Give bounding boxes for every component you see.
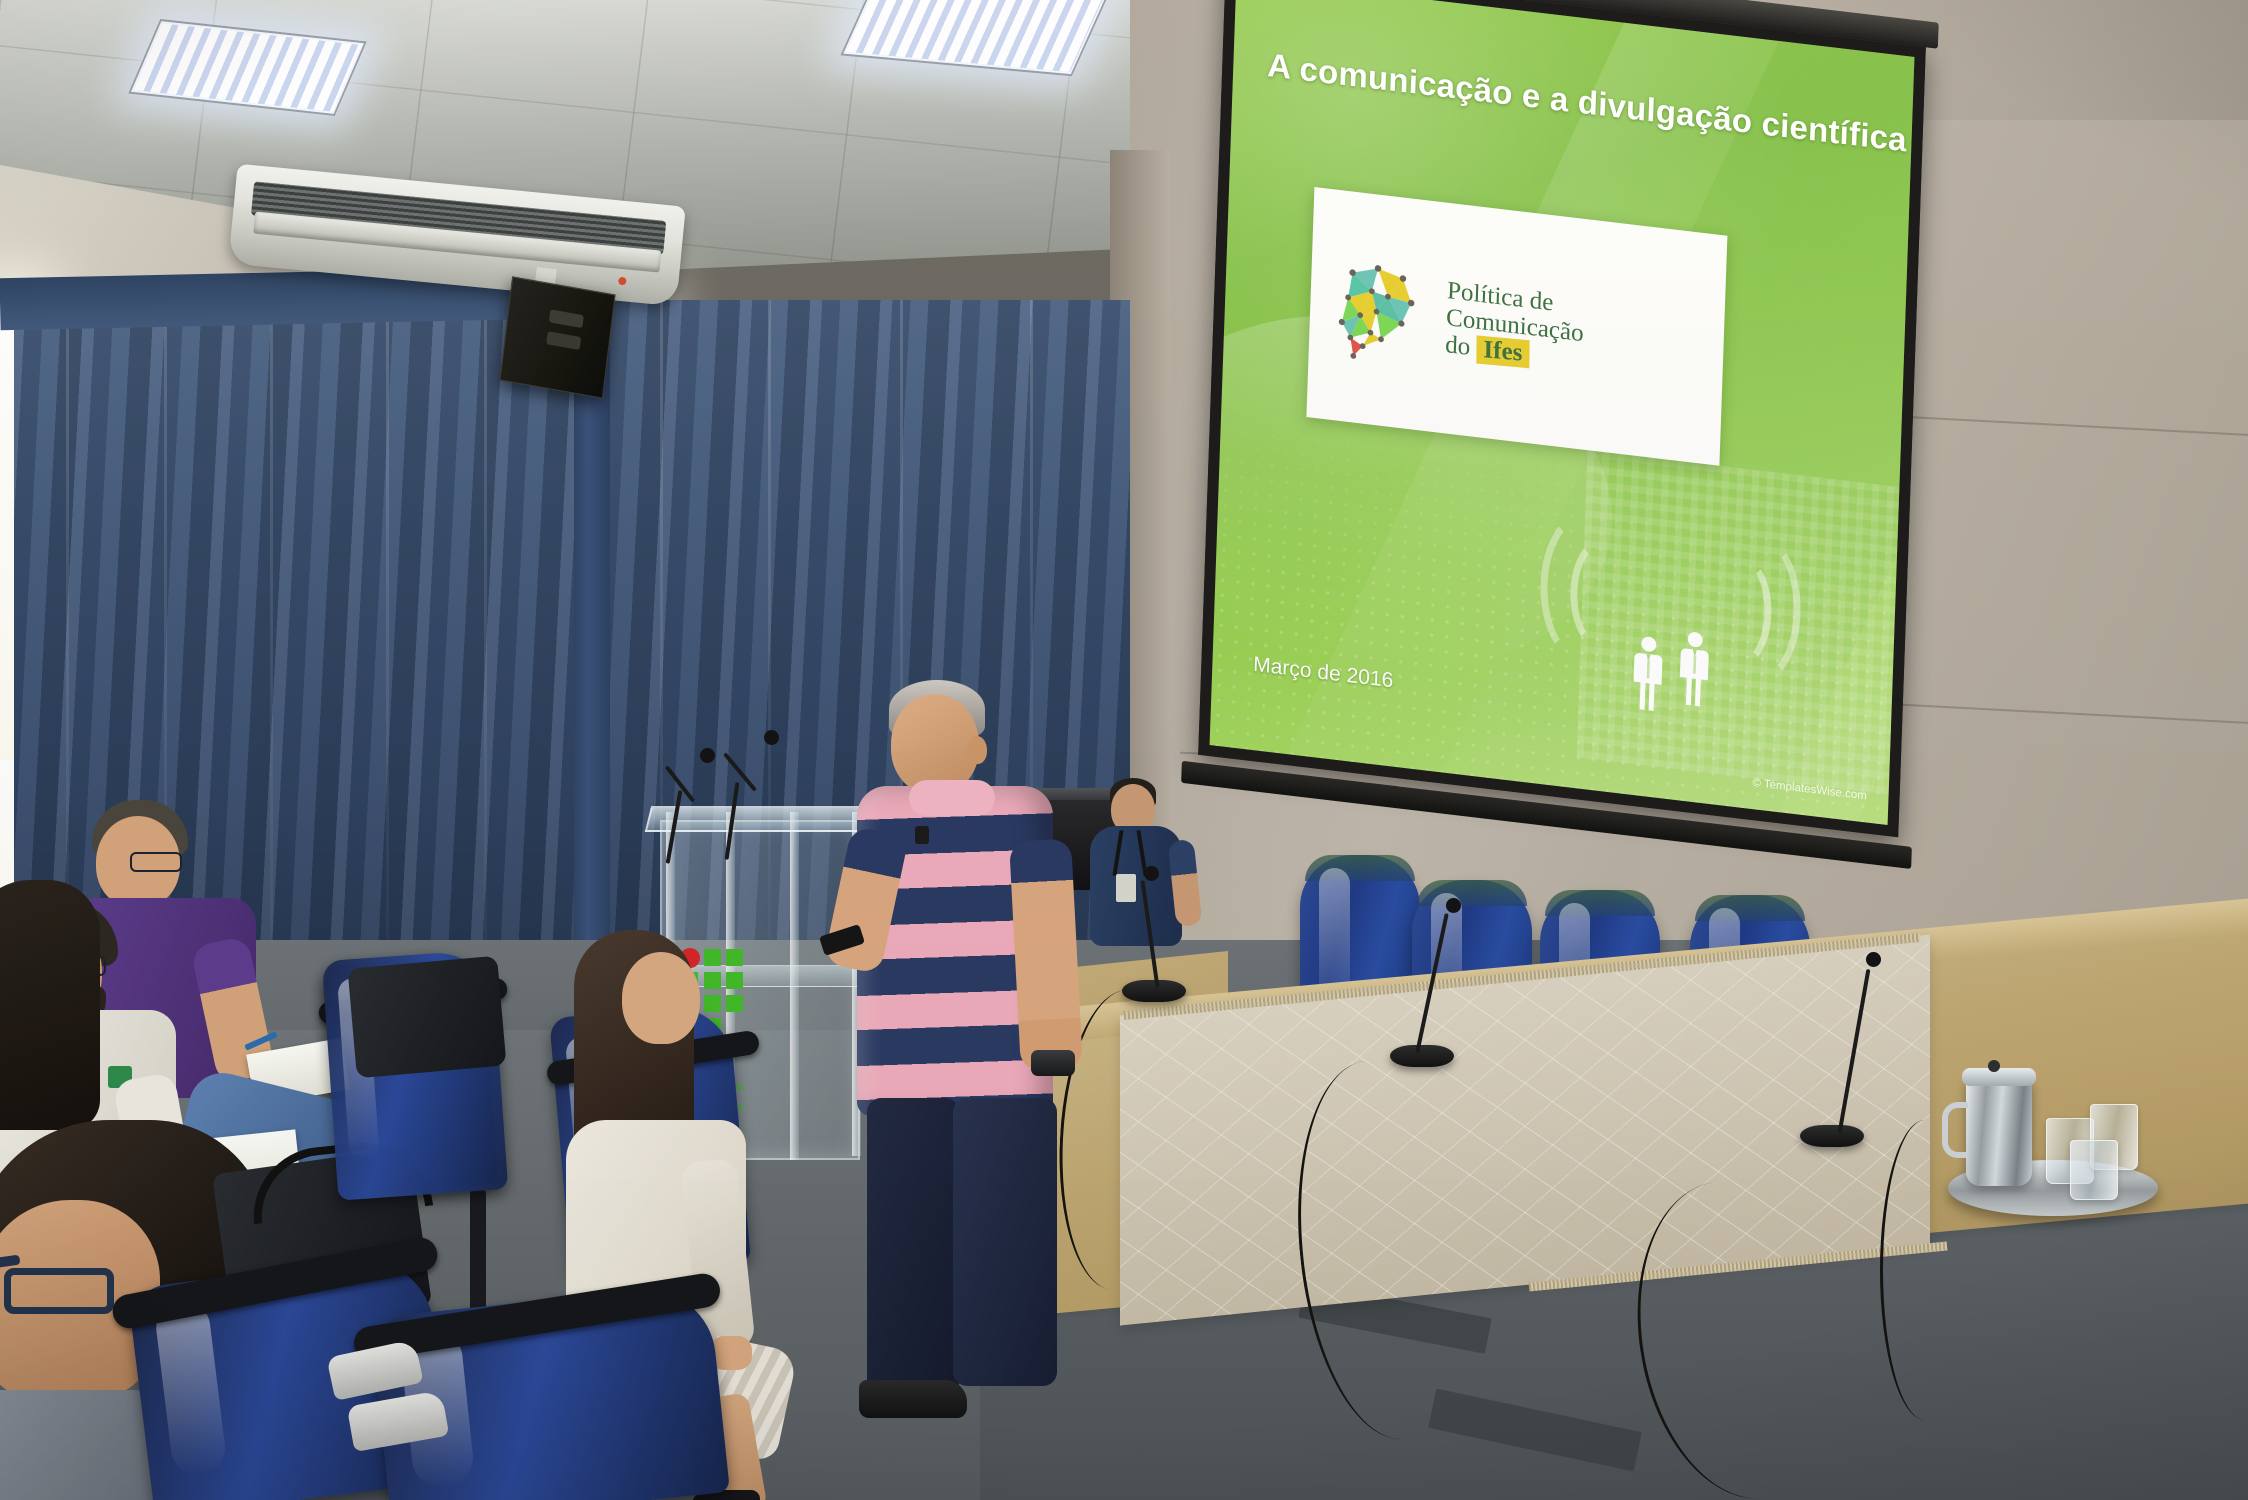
woman-head	[622, 952, 700, 1044]
slide-logo-card: Política de Comunicação do Ifes	[1306, 187, 1728, 466]
microphone-capsule-icon	[764, 730, 779, 745]
eyeglasses-icon	[4, 1268, 114, 1314]
technician-badge	[1116, 874, 1136, 902]
curtain-fold	[484, 292, 487, 992]
microphone-capsule-icon	[1446, 898, 1461, 913]
microphone-capsule-icon	[1144, 866, 1159, 881]
chair-top	[1305, 855, 1415, 881]
logo-line-3-prefix: do	[1445, 331, 1477, 362]
pitcher-handle	[1942, 1102, 1968, 1158]
presenter-right-leg	[953, 1098, 1057, 1386]
speaker-port	[549, 309, 584, 328]
audience-hair-long	[0, 880, 100, 1130]
presenter-head	[891, 694, 979, 794]
curtain-fold	[386, 292, 389, 992]
person-figure-icon	[1632, 634, 1665, 712]
logo-wordmark: Política de Comunicação do Ifes	[1445, 277, 1585, 375]
chair-top	[1417, 880, 1527, 906]
slide-content: A comunicação e a divulgação científica	[1210, 0, 1915, 825]
microphone-capsule-icon	[1866, 952, 1881, 967]
slide-people-graphic	[1530, 498, 1809, 760]
wristwatch-icon	[1031, 1050, 1075, 1076]
pitcher-lid	[1962, 1068, 2036, 1086]
floor-cable	[1880, 1120, 1970, 1420]
foreground-torso	[0, 1390, 160, 1500]
presenter	[845, 680, 1105, 1420]
speaker-icon	[499, 276, 615, 398]
bag-on-chair	[347, 956, 506, 1079]
chair-top	[1695, 895, 1805, 921]
thermal-pitcher	[1966, 1078, 2032, 1186]
ac-status-led	[618, 277, 627, 286]
microphone-capsule-icon	[700, 748, 715, 763]
drinking-glass	[2070, 1140, 2118, 1200]
projection-screen: A comunicação e a divulgação científica	[1198, 0, 1926, 837]
presenter-collar	[909, 780, 995, 816]
speaker-port	[546, 332, 581, 351]
presenter-ear	[967, 736, 987, 764]
person-figure-icon	[1678, 627, 1711, 711]
presenter-right-arm	[1009, 839, 1083, 1072]
presenter-left-leg	[867, 1098, 959, 1398]
chair-top	[1545, 890, 1655, 916]
ifes-badge: Ifes	[1476, 335, 1529, 367]
gooseneck-mic-base[interactable]	[1800, 1125, 1864, 1147]
chair-highlight	[153, 1298, 228, 1478]
politica-comunicacao-logo-icon	[1322, 250, 1434, 371]
presenter-shoe	[859, 1380, 967, 1418]
eyeglasses-icon	[130, 852, 182, 872]
conference-room-photo: A comunicação e a divulgação científica	[0, 0, 2248, 1500]
pitcher-knob	[1988, 1060, 2000, 1072]
lapel-microphone-icon	[915, 826, 929, 844]
